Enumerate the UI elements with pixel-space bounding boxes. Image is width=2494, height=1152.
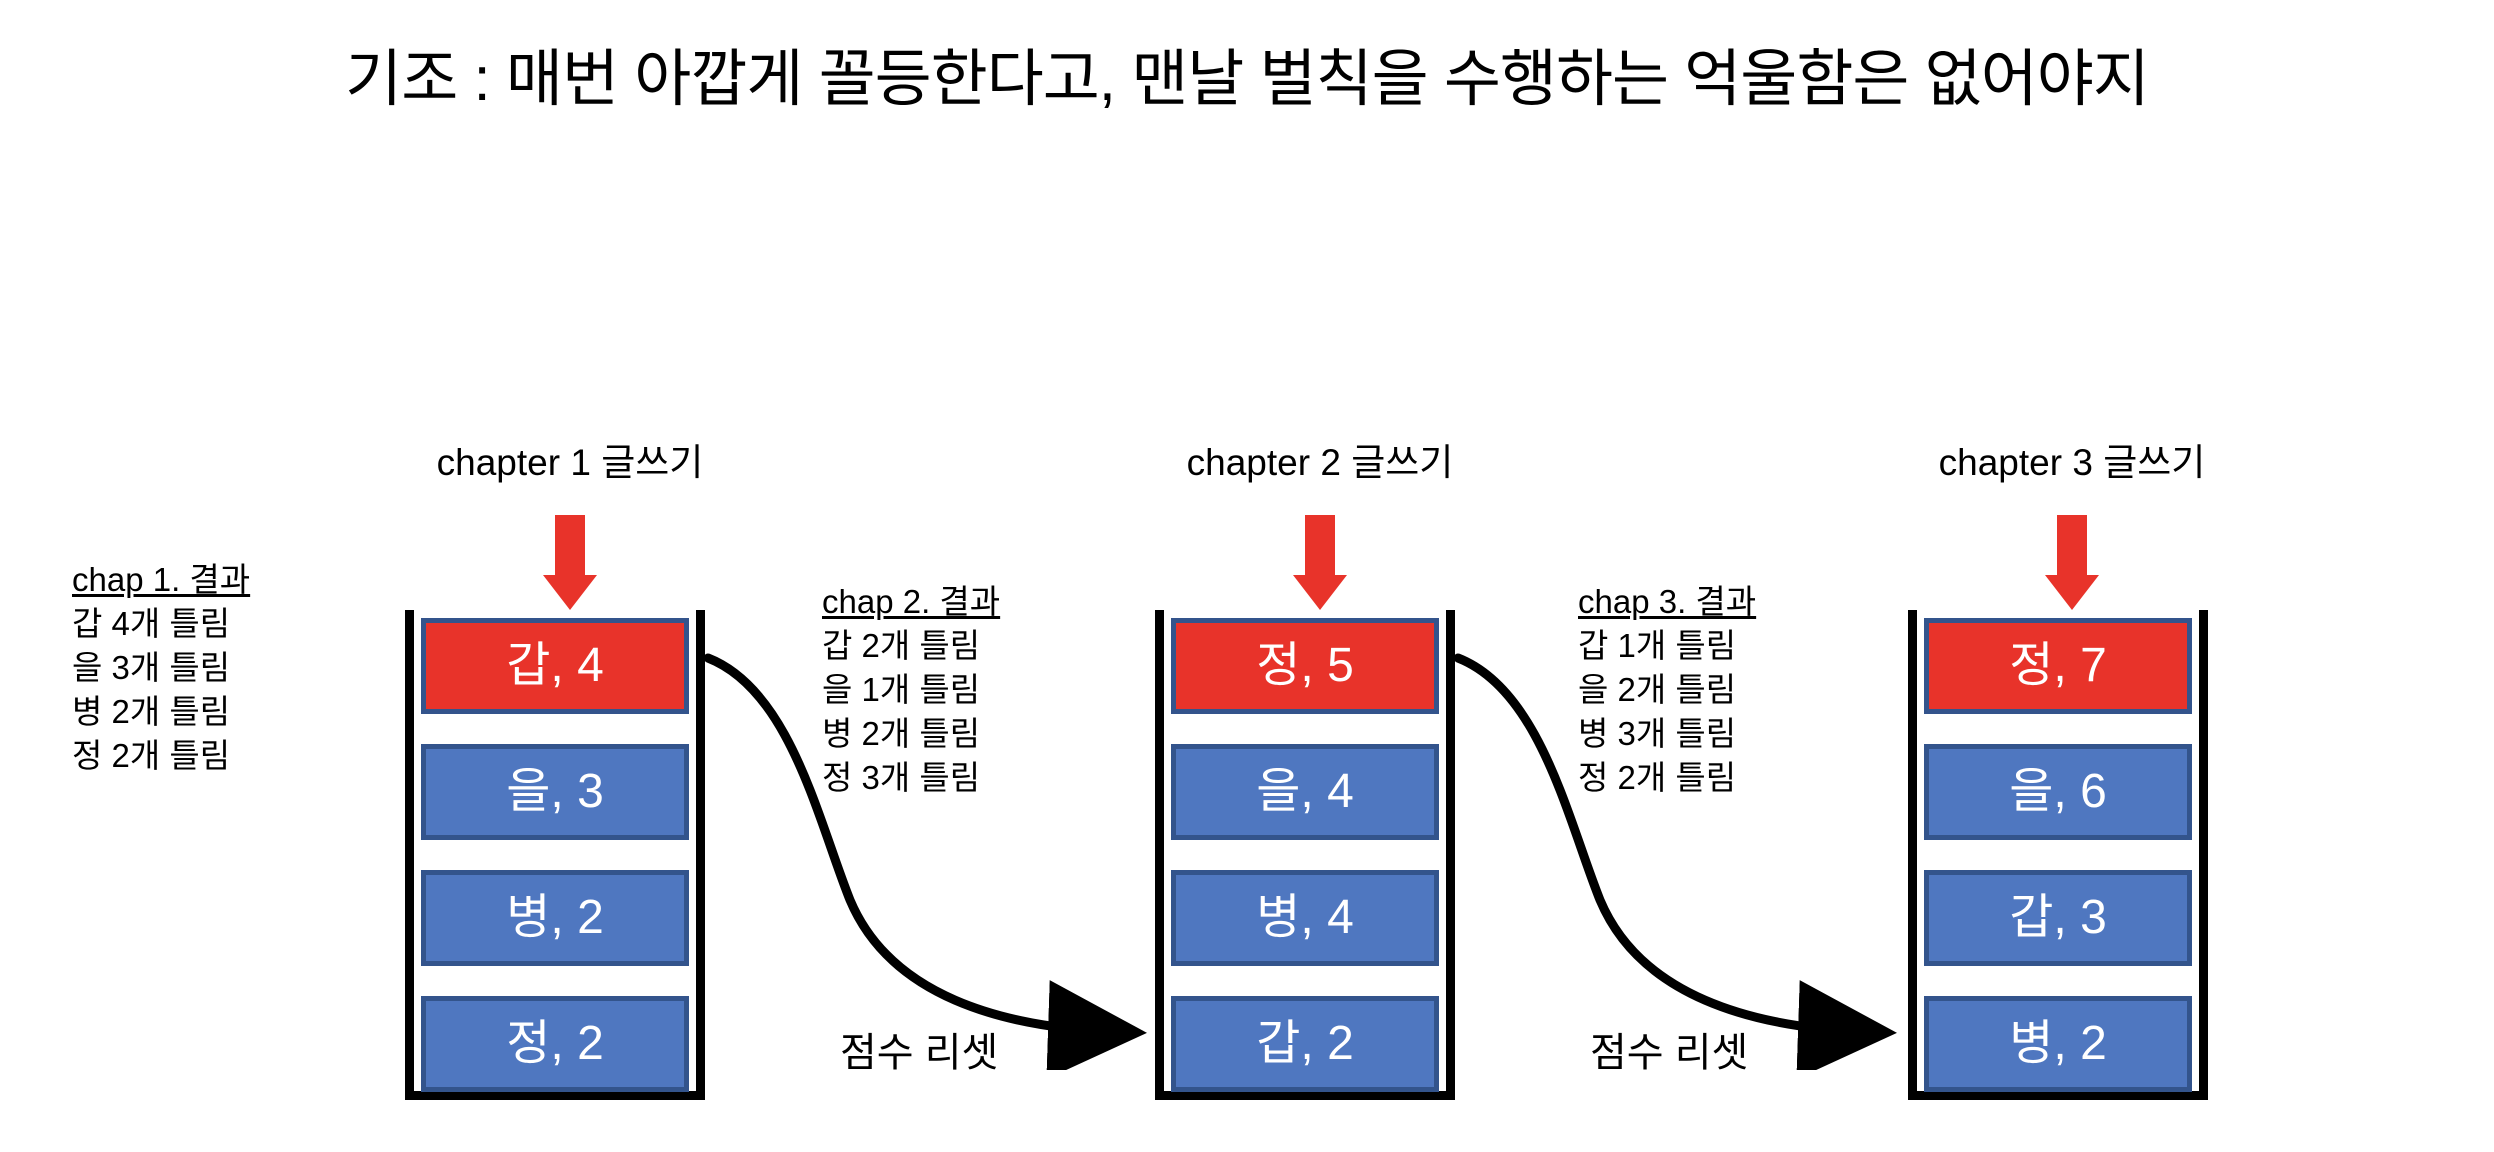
stack-rows: 정, 7 을, 6 갑, 3 병, 2: [1924, 618, 2192, 1092]
result-heading-2: chap 2. 결과: [822, 580, 1000, 624]
chapter-label-2: chapter 2 글쓰기: [1110, 432, 1530, 486]
arrow-shaft: [1305, 515, 1335, 577]
result-heading-1: chap 1. 결과: [72, 558, 250, 602]
rank-cell-3: 갑, 3: [1924, 870, 2192, 966]
slide-canvas: 기조 : 매번 아깝게 꼴등한다고, 맨날 벌칙을 수행하는 억울함은 없어야지…: [0, 0, 2494, 1152]
arrow-head: [2045, 575, 2099, 610]
stack-bracket-right: [2199, 610, 2208, 1100]
rank-cell-3: 병, 2: [421, 870, 689, 966]
result-line: 갑 2개 틀림: [822, 624, 1000, 668]
arrow-shaft: [555, 515, 585, 577]
result-line: 병 2개 틀림: [72, 690, 250, 734]
rank-cell-2: 을, 3: [421, 744, 689, 840]
result-line: 을 1개 틀림: [822, 668, 1000, 712]
rank-stack-1: 갑, 4 을, 3 병, 2 정, 2: [405, 610, 705, 1100]
result-line: 갑 1개 틀림: [1578, 624, 1756, 668]
stack-bracket-bottom: [1908, 1091, 2208, 1100]
result-line: 병 3개 틀림: [1578, 712, 1756, 756]
stack-bracket-bottom: [1155, 1091, 1455, 1100]
rank-cell-1: 정, 7: [1924, 618, 2192, 714]
reset-label-2: 점수 리셋: [1590, 1020, 1748, 1078]
rank-cell-4: 정, 2: [421, 996, 689, 1092]
result-line: 정 2개 틀림: [1578, 756, 1756, 800]
arrow-head: [543, 575, 597, 610]
rank-cell-1: 갑, 4: [421, 618, 689, 714]
reset-label-1: 점수 리셋: [840, 1020, 998, 1078]
result-block-2: chap 2. 결과 갑 2개 틀림 을 1개 틀림 병 2개 틀림 정 3개 …: [822, 580, 1000, 799]
result-line: 정 2개 틀림: [72, 734, 250, 778]
result-heading-3: chap 3. 결과: [1578, 580, 1756, 624]
stack-rows: 정, 5 을, 4 병, 4 갑, 2: [1171, 618, 1439, 1092]
stack-bracket-left: [1908, 610, 1917, 1100]
stack-bracket-left: [405, 610, 414, 1100]
result-line: 정 3개 틀림: [822, 756, 1000, 800]
stack-bracket-bottom: [405, 1091, 705, 1100]
rank-cell-2: 을, 4: [1171, 744, 1439, 840]
result-block-1: chap 1. 결과 갑 4개 틀림 을 3개 틀림 병 2개 틀림 정 2개 …: [72, 558, 250, 777]
arrow-shaft: [2057, 515, 2087, 577]
result-line: 병 2개 틀림: [822, 712, 1000, 756]
result-block-3: chap 3. 결과 갑 1개 틀림 을 2개 틀림 병 3개 틀림 정 2개 …: [1578, 580, 1756, 799]
chapter-label-1: chapter 1 글쓰기: [360, 432, 780, 486]
chapter-label-3: chapter 3 글쓰기: [1862, 432, 2282, 486]
rank-cell-2: 을, 6: [1924, 744, 2192, 840]
rank-stack-2: 정, 5 을, 4 병, 4 갑, 2: [1155, 610, 1455, 1100]
result-line: 을 3개 틀림: [72, 646, 250, 690]
stack-bracket-left: [1155, 610, 1164, 1100]
rank-cell-3: 병, 4: [1171, 870, 1439, 966]
result-line: 을 2개 틀림: [1578, 668, 1756, 712]
stack-rows: 갑, 4 을, 3 병, 2 정, 2: [421, 618, 689, 1092]
rank-cell-4: 병, 2: [1924, 996, 2192, 1092]
page-title: 기조 : 매번 아깝게 꼴등한다고, 맨날 벌칙을 수행하는 억울함은 없어야지: [0, 28, 2494, 118]
rank-stack-3: 정, 7 을, 6 갑, 3 병, 2: [1908, 610, 2208, 1100]
rank-cell-1: 정, 5: [1171, 618, 1439, 714]
result-line: 갑 4개 틀림: [72, 602, 250, 646]
arrow-head: [1293, 575, 1347, 610]
rank-cell-4: 갑, 2: [1171, 996, 1439, 1092]
